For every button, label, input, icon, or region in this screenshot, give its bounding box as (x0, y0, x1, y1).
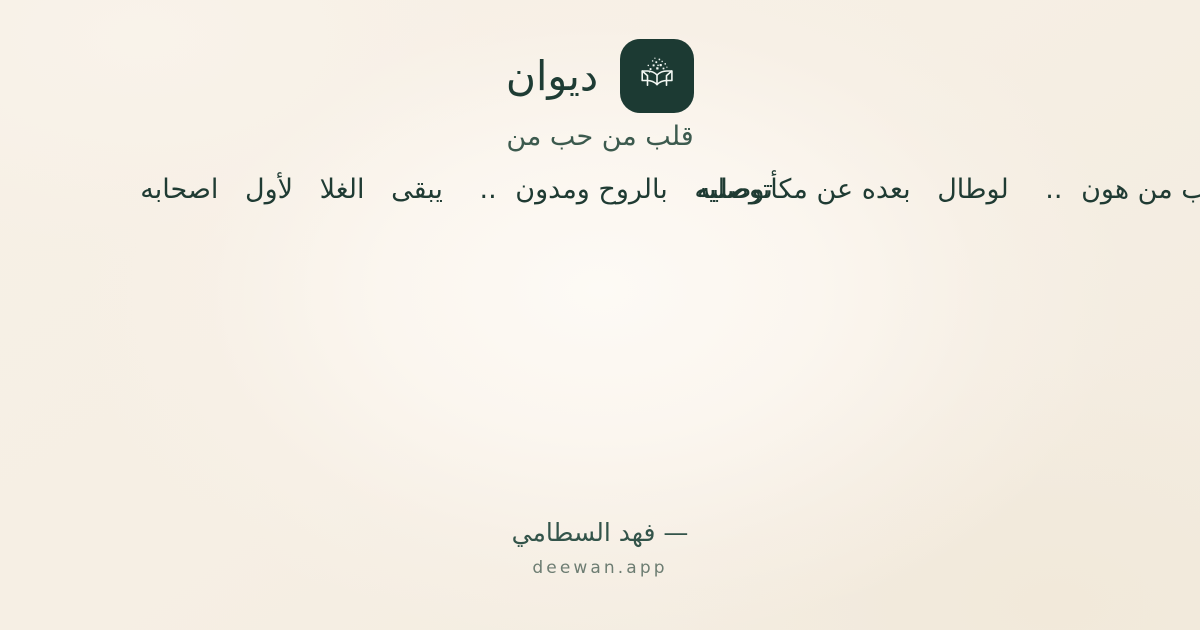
verse-overlap-fragment: توصليه (697, 166, 773, 214)
verse-segment: بالروح ومدون (515, 174, 667, 205)
site-url: deewan.app (0, 557, 1200, 579)
verse-separator: .. (1045, 174, 1062, 205)
poem-title: قلب من حب من (0, 120, 1200, 154)
app-logo (620, 39, 694, 113)
verse-segment: الغلا (320, 174, 365, 205)
open-book-sparkles-icon (633, 52, 681, 100)
verse-segment: لب من هون (1081, 174, 1200, 205)
verse-segment: يبقى (391, 174, 443, 205)
share-card: ديوان قلب من حب من لب من هون .. لوطال بع… (0, 0, 1200, 630)
verse-strip: لب من هون .. لوطال بعده عن مكأتوصليه بال… (0, 166, 1200, 218)
verse-segment: لوطال (937, 174, 1009, 205)
verse-separator: .. (480, 174, 497, 205)
verse-line: لب من هون .. لوطال بعده عن مكأتوصليه بال… (140, 166, 1200, 214)
brand-name: ديوان (506, 56, 598, 97)
poem-author: — فهد السطامي (0, 517, 1200, 550)
brand-lockup: ديوان (0, 38, 1200, 114)
verse-segment: اصحابه (140, 174, 218, 205)
verse-segment: لأول (245, 174, 293, 205)
